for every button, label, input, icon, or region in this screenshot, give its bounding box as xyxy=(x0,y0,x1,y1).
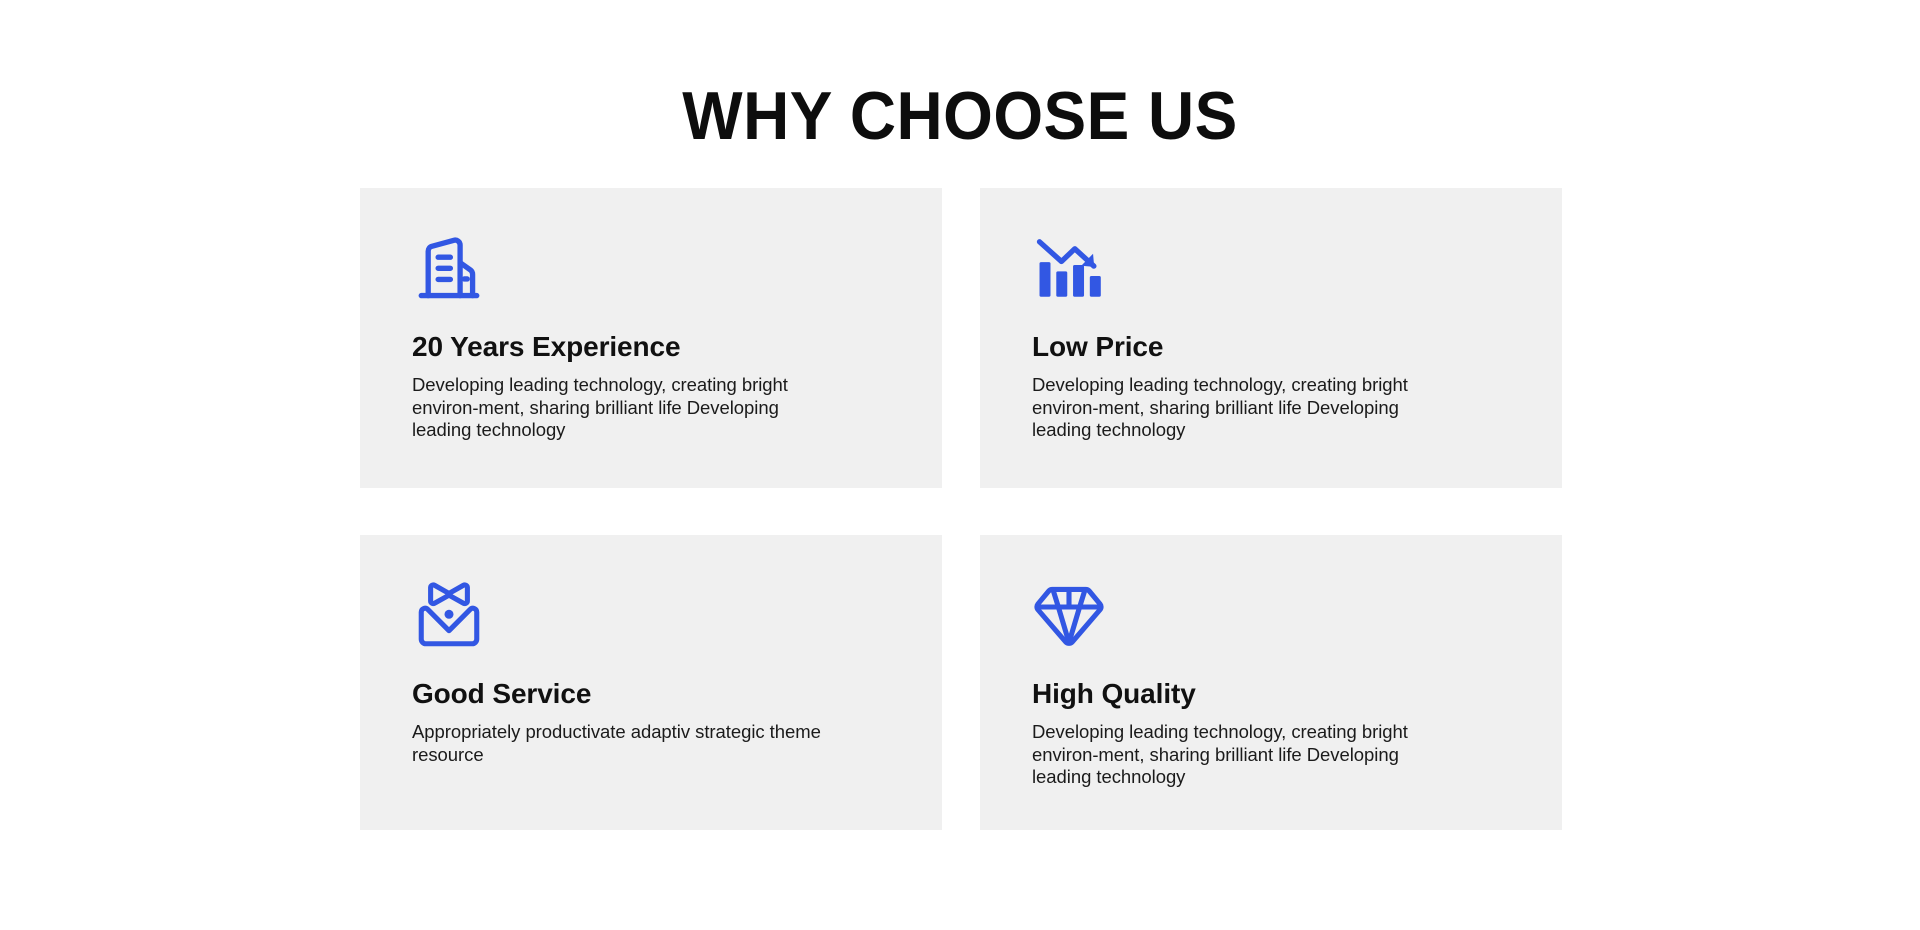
card-description: Appropriately productivate adaptiv strat… xyxy=(412,721,832,766)
feature-card-high-quality[interactable]: High Quality Developing leading technolo… xyxy=(980,535,1562,830)
feature-card-good-service[interactable]: Good Service Appropriately productivate … xyxy=(360,535,942,830)
card-description: Developing leading technology, creating … xyxy=(1032,374,1452,442)
card-title: Low Price xyxy=(1032,330,1510,364)
why-choose-us-section: WHY CHOOSE US 20 Years Experience Develo… xyxy=(0,0,1920,930)
card-description: Developing leading technology, creating … xyxy=(1032,721,1452,789)
declining-bar-chart-icon xyxy=(1032,232,1106,306)
diamond-gem-icon xyxy=(1032,579,1106,653)
office-building-icon xyxy=(412,232,486,306)
page-title: WHY CHOOSE US xyxy=(58,78,1863,154)
feature-card-20-years-experience[interactable]: 20 Years Experience Developing leading t… xyxy=(360,188,942,488)
card-title: 20 Years Experience xyxy=(412,330,890,364)
card-description: Developing leading technology, creating … xyxy=(412,374,832,442)
tuxedo-bow-tie-icon xyxy=(412,579,486,653)
card-title: High Quality xyxy=(1032,677,1510,711)
feature-card-low-price[interactable]: Low Price Developing leading technology,… xyxy=(980,188,1562,488)
card-title: Good Service xyxy=(412,677,890,711)
feature-card-grid: 20 Years Experience Developing leading t… xyxy=(360,188,1562,830)
